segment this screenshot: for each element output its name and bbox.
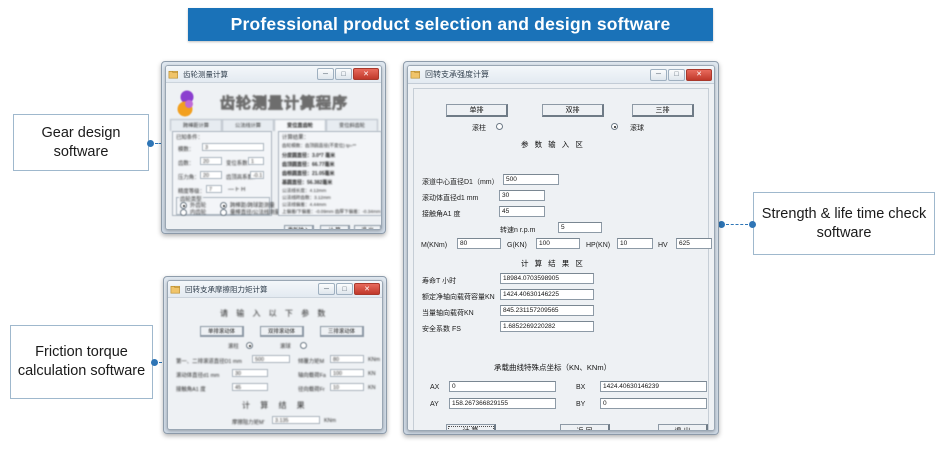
gear-result-3: 齿根圆直径：21.05毫米 xyxy=(282,170,335,177)
friction-field-3[interactable]: 100 xyxy=(330,369,364,377)
close-button[interactable]: ✕ xyxy=(354,283,380,295)
curve-label-by: BY xyxy=(576,401,585,408)
input-label-angle: 接触角A1 度 xyxy=(422,209,461,219)
radio-roller[interactable] xyxy=(496,123,503,130)
friction-field-0[interactable]: 500 xyxy=(252,355,290,363)
tab-kuabangju[interactable]: 跨棒距计算 xyxy=(170,119,222,131)
window-folder-icon xyxy=(170,284,181,295)
gear-result-5: 公法线长度：4.12mm xyxy=(282,188,326,194)
load-hp-value: 10 xyxy=(620,240,627,247)
tab-bianwei-xiechilun[interactable]: 变位斜齿轮 xyxy=(326,119,378,131)
load-g-value: 100 xyxy=(539,240,550,247)
result-rated-axial: 1424.40630146225 xyxy=(500,289,594,300)
input-label-d1: 滚道中心直径D1（mm） xyxy=(422,177,499,187)
minimize-button[interactable]: ─ xyxy=(650,69,667,81)
load-hv[interactable]: 625 xyxy=(676,238,712,249)
window-folder-icon xyxy=(168,69,179,80)
input-speed-value: 5 xyxy=(561,224,565,231)
strength-window-frame: 回转支承强度计算 ─ □ ✕ 单排 双排 三排 滚柱 滚球 xyxy=(407,65,715,431)
friction-torque-window-buttons[interactable]: ─ □ ✕ xyxy=(318,283,380,295)
result-equiv-axial: 845.231157209565 xyxy=(500,305,594,316)
double-row-button[interactable]: 双排 xyxy=(542,104,604,117)
input-speed[interactable]: 5 xyxy=(558,222,602,233)
input-d-roll-value: 30 xyxy=(502,192,509,199)
radio-ball[interactable] xyxy=(300,342,307,349)
maximize-button[interactable]: □ xyxy=(336,283,353,295)
friction-field-2-value: 45 xyxy=(235,385,241,391)
friction-result-value: 3.135 xyxy=(275,418,289,424)
curve-bx-value: 1424.40630146239 xyxy=(603,383,659,390)
input-label-speed: 转速n r.p.m xyxy=(500,225,535,235)
strength-exit-button[interactable]: 退 出 xyxy=(658,424,708,431)
gear-design-window[interactable]: 齿轮测量计算 ─ □ ✕ 齿轮测量计算程序 跨棒距计算 公法线计算 变位直 xyxy=(161,61,386,234)
gear-reset-button[interactable]: 重新输入 xyxy=(284,225,314,230)
friction-field-3-unit: KN xyxy=(368,371,376,377)
callout-strength-life-label: Strength & life time check software xyxy=(760,205,928,242)
close-button[interactable]: ✕ xyxy=(686,69,712,81)
gear-calculate-button[interactable]: 计 算 xyxy=(320,225,350,230)
radio-roller-label: 滚柱 xyxy=(228,342,239,350)
single-row-button[interactable]: 单排 xyxy=(446,104,508,117)
radio-external-gear[interactable] xyxy=(180,202,187,209)
triple-row-button[interactable]: 三排滚动体 xyxy=(320,326,364,337)
friction-torque-client-area: 请 输 入 以 下 参 数 单排滚动体 双排滚动体 三排滚动体 滚柱 滚球 第一… xyxy=(168,298,382,430)
callout-gear-design: Gear design software xyxy=(13,114,149,171)
connector-dot xyxy=(749,221,756,228)
result-safety-factor: 1.6852269220282 xyxy=(500,321,594,332)
gear-design-window-buttons[interactable]: ─ □ ✕ xyxy=(317,68,379,80)
result-safety-factor-value: 1.6852269220282 xyxy=(503,323,555,330)
field-label-accuracy: 精度等级： xyxy=(178,187,205,195)
friction-field-label-1: 滚动体直径d1 mm xyxy=(176,371,219,379)
result-life: 18984.0703598905 xyxy=(500,273,594,284)
friction-result-label: 摩擦阻力矩M' xyxy=(232,418,264,426)
curve-ay[interactable]: 158.267366829155 xyxy=(449,398,556,409)
callout-gear-design-label: Gear design software xyxy=(20,124,142,161)
strength-window[interactable]: 回转支承强度计算 ─ □ ✕ 单排 双排 三排 滚柱 滚球 xyxy=(403,61,719,435)
callout-strength-life: Strength & life time check software xyxy=(753,192,935,255)
load-label-m: M(KNm) xyxy=(421,242,447,249)
connector-dash xyxy=(726,224,748,225)
result-rated-axial-value: 1424.40630146225 xyxy=(503,291,559,298)
load-label-hv: HV xyxy=(658,242,668,249)
connector-dot xyxy=(151,359,158,366)
friction-field-label-3: 轴向载荷Fa xyxy=(298,371,326,379)
maximize-button[interactable]: □ xyxy=(668,69,685,81)
radio-ball-label: 滚球 xyxy=(630,123,644,133)
field-addendum-coef[interactable]: -0.1 xyxy=(250,171,264,179)
strength-window-buttons[interactable]: ─ □ ✕ xyxy=(650,69,712,81)
load-m[interactable]: 80 xyxy=(457,238,501,249)
result-label-life: 寿命T 小时 xyxy=(422,276,456,286)
radio-internal-gear[interactable] xyxy=(180,209,187,216)
gear-design-tabstrip[interactable]: 跨棒距计算 公法线计算 变位直齿轮 变位斜齿轮 xyxy=(170,119,378,131)
friction-result-unit: KNm xyxy=(324,418,336,424)
field-shift-coef-value: 1 xyxy=(251,159,254,165)
field-label-teeth: 齿数： xyxy=(178,159,194,167)
friction-field-label-5: 径向载荷Fr xyxy=(298,385,325,393)
radio-roller[interactable] xyxy=(246,342,253,349)
friction-heading: 请 输 入 以 下 参 数 xyxy=(220,308,328,319)
radio-span-measure-label: 量棒直径/公法线测量 xyxy=(230,208,280,216)
radio-internal-gear-label: 内齿轮 xyxy=(190,208,206,216)
load-g[interactable]: 100 xyxy=(536,238,580,249)
curve-label-ax: AX xyxy=(430,384,439,391)
double-row-button[interactable]: 双排滚动体 xyxy=(260,326,304,337)
friction-field-label-2: 接触角A1 度 xyxy=(176,385,206,393)
gear-result-4: 基圆直径：56.382毫米 xyxy=(282,179,332,186)
input-angle[interactable]: 45 xyxy=(499,206,545,217)
friction-field-5-unit: KN xyxy=(368,385,376,391)
gear-result-8: 上偏差/下偏差：-0.09mm 齿厚下偏差：-0.34mm xyxy=(282,209,381,215)
field-pressure-angle[interactable]: 20 xyxy=(200,171,222,179)
gear-exit-button[interactable]: 退 出 xyxy=(354,225,382,230)
close-button[interactable]: ✕ xyxy=(353,68,379,80)
field-shift-coef[interactable]: 1 xyxy=(248,157,264,165)
gear-result-1: 分度圆直径：3.0*7 毫米 xyxy=(282,152,335,159)
friction-field-label-4: 倾覆力矩M xyxy=(298,357,324,365)
curve-by-value: 0 xyxy=(603,400,607,407)
field-label-module: 模数： xyxy=(178,145,194,153)
gear-design-client-area: 齿轮测量计算程序 跨棒距计算 公法线计算 变位直齿轮 变位斜齿轮 已知条件： 模… xyxy=(166,83,381,230)
result-section-title: 计 算 结 果 区 xyxy=(521,258,585,269)
field-module[interactable]: 3 xyxy=(202,143,264,151)
field-accuracy[interactable]: 7 xyxy=(206,185,222,193)
input-d1[interactable]: 500 xyxy=(503,174,559,185)
field-module-value: 3 xyxy=(205,145,208,151)
friction-torque-title: 回转支承摩擦阻力矩计算 xyxy=(185,284,314,295)
radio-roller-label: 滚柱 xyxy=(472,123,486,133)
gear-design-banner: 齿轮测量计算程序 xyxy=(210,89,358,115)
field-addendum-coef-value: -0.1 xyxy=(253,173,262,179)
page-title-banner: Professional product selection and desig… xyxy=(188,8,713,41)
input-section-title: 参 数 输 入 区 xyxy=(521,139,585,150)
gear-result-6: 公法线跨齿数：3.12mm xyxy=(282,195,331,201)
friction-field-5-value: 10 xyxy=(333,385,339,391)
result-label-safety-factor: 安全系数 FS xyxy=(422,324,461,334)
curve-label-ay: AY xyxy=(430,401,439,408)
friction-field-4[interactable]: 80 xyxy=(330,355,364,363)
curve-section-title: 承载曲线特殊点坐标（KN、KNm） xyxy=(494,362,611,373)
callout-friction-torque: Friction torque calculation software xyxy=(10,325,153,399)
strength-titlebar[interactable]: 回转支承强度计算 ─ □ ✕ xyxy=(408,66,714,84)
connector-dot xyxy=(718,221,725,228)
load-hp[interactable]: 10 xyxy=(617,238,653,249)
load-m-value: 80 xyxy=(460,240,467,247)
tab-gongfaxian[interactable]: 公法线计算 xyxy=(222,119,274,131)
window-folder-icon xyxy=(410,69,421,80)
gear-result-7: 公法线偏差：4.44mm xyxy=(282,202,326,208)
curve-bx[interactable]: 1424.40630146239 xyxy=(600,381,707,392)
gear-result-2: 齿顶圆直径：66.77毫米 xyxy=(282,161,335,168)
field-pressure-angle-value: 20 xyxy=(203,173,209,179)
input-label-d-roll: 滚动体直径d1 mm xyxy=(422,193,478,203)
load-label-g: G(KN) xyxy=(507,242,527,249)
gear-design-titlebar[interactable]: 齿轮测量计算 ─ □ ✕ xyxy=(166,66,381,83)
radio-ball[interactable] xyxy=(611,123,618,130)
connector-dot xyxy=(147,140,154,147)
single-row-button[interactable]: 单排滚动体 xyxy=(200,326,244,337)
app-logo-icon xyxy=(176,89,198,119)
callout-friction-torque-label: Friction torque calculation software xyxy=(17,343,146,380)
gear-results-label: 计算结果： xyxy=(282,133,309,141)
minimize-button[interactable]: ─ xyxy=(317,68,334,80)
strength-client-area: 单排 双排 三排 滚柱 滚球 参 数 输 入 区 滚道中心直径D1（mm） 50… xyxy=(408,84,714,431)
result-label-rated-axial: 额定净轴向载荷容量KN xyxy=(422,292,495,302)
friction-field-4-value: 80 xyxy=(333,357,339,363)
friction-field-1-value: 30 xyxy=(235,371,241,377)
strength-return-button[interactable]: 返 回 xyxy=(560,424,610,431)
result-equiv-axial-value: 845.231157209565 xyxy=(503,307,559,314)
accuracy-suffix: — F H xyxy=(228,187,245,193)
radio-pin-measure[interactable] xyxy=(220,202,227,209)
friction-field-2[interactable]: 45 xyxy=(232,383,268,391)
strength-calculate-button[interactable]: 计 算 xyxy=(446,424,496,431)
load-label-hp: HP(KN) xyxy=(586,242,610,249)
friction-field-label-0: 第一、二排滚道直径D1 mm xyxy=(176,357,242,365)
input-d1-value: 500 xyxy=(506,176,517,183)
curve-ay-value: 158.267366829155 xyxy=(452,400,508,407)
friction-field-1[interactable]: 30 xyxy=(232,369,268,377)
friction-field-5[interactable]: 10 xyxy=(330,383,364,391)
minimize-button[interactable]: ─ xyxy=(318,283,335,295)
friction-result-field[interactable]: 3.135 xyxy=(272,416,320,424)
friction-field-4-unit: KNm xyxy=(368,357,380,363)
radio-ball-label: 滚球 xyxy=(280,342,291,350)
friction-torque-window-frame: 回转支承摩擦阻力矩计算 ─ □ ✕ 请 输 入 以 下 参 数 单排滚动体 双排… xyxy=(167,280,383,430)
field-teeth[interactable]: 20 xyxy=(200,157,222,165)
triple-row-button[interactable]: 三排 xyxy=(632,104,694,117)
connector-strength xyxy=(718,219,756,229)
curve-label-bx: BX xyxy=(576,384,585,391)
curve-ax[interactable]: 0 xyxy=(449,381,556,392)
curve-ax-value: 0 xyxy=(452,383,456,390)
known-conditions-label: 已知条件： xyxy=(176,133,203,141)
strength-title: 回转支承强度计算 xyxy=(425,69,646,80)
result-label-equiv-axial: 当量轴向载荷KN xyxy=(422,308,474,318)
page-title: Professional product selection and desig… xyxy=(231,14,671,35)
load-hv-value: 625 xyxy=(679,240,690,247)
gear-design-window-frame: 齿轮测量计算 ─ □ ✕ 齿轮测量计算程序 跨棒距计算 公法线计算 变位直 xyxy=(165,65,382,230)
friction-torque-window[interactable]: 回转支承摩擦阻力矩计算 ─ □ ✕ 请 输 入 以 下 参 数 单排滚动体 双排… xyxy=(163,276,387,434)
gear-design-title: 齿轮测量计算 xyxy=(183,69,313,80)
radio-span-measure[interactable] xyxy=(220,209,227,216)
input-angle-value: 45 xyxy=(502,208,509,215)
maximize-button[interactable]: □ xyxy=(335,68,352,80)
result-life-value: 18984.0703598905 xyxy=(503,275,559,282)
input-d-roll[interactable]: 30 xyxy=(499,190,545,201)
curve-by[interactable]: 0 xyxy=(600,398,707,409)
friction-result-title: 计 算 结 果 xyxy=(242,400,309,411)
friction-field-3-value: 100 xyxy=(333,371,342,377)
field-teeth-value: 20 xyxy=(203,159,209,165)
field-label-pressure-angle: 压力角： xyxy=(178,173,200,181)
friction-torque-titlebar[interactable]: 回转支承摩擦阻力矩计算 ─ □ ✕ xyxy=(168,281,382,298)
screenshot-canvas: Professional product selection and desig… xyxy=(0,0,944,457)
friction-field-0-value: 500 xyxy=(255,357,264,363)
tab-bianwei-zhichilun[interactable]: 变位直齿轮 xyxy=(274,119,326,131)
gear-result-0: 齿轮模数：齿顶圆直径(不变位) tp=** xyxy=(282,143,356,149)
field-accuracy-value: 7 xyxy=(209,187,212,193)
